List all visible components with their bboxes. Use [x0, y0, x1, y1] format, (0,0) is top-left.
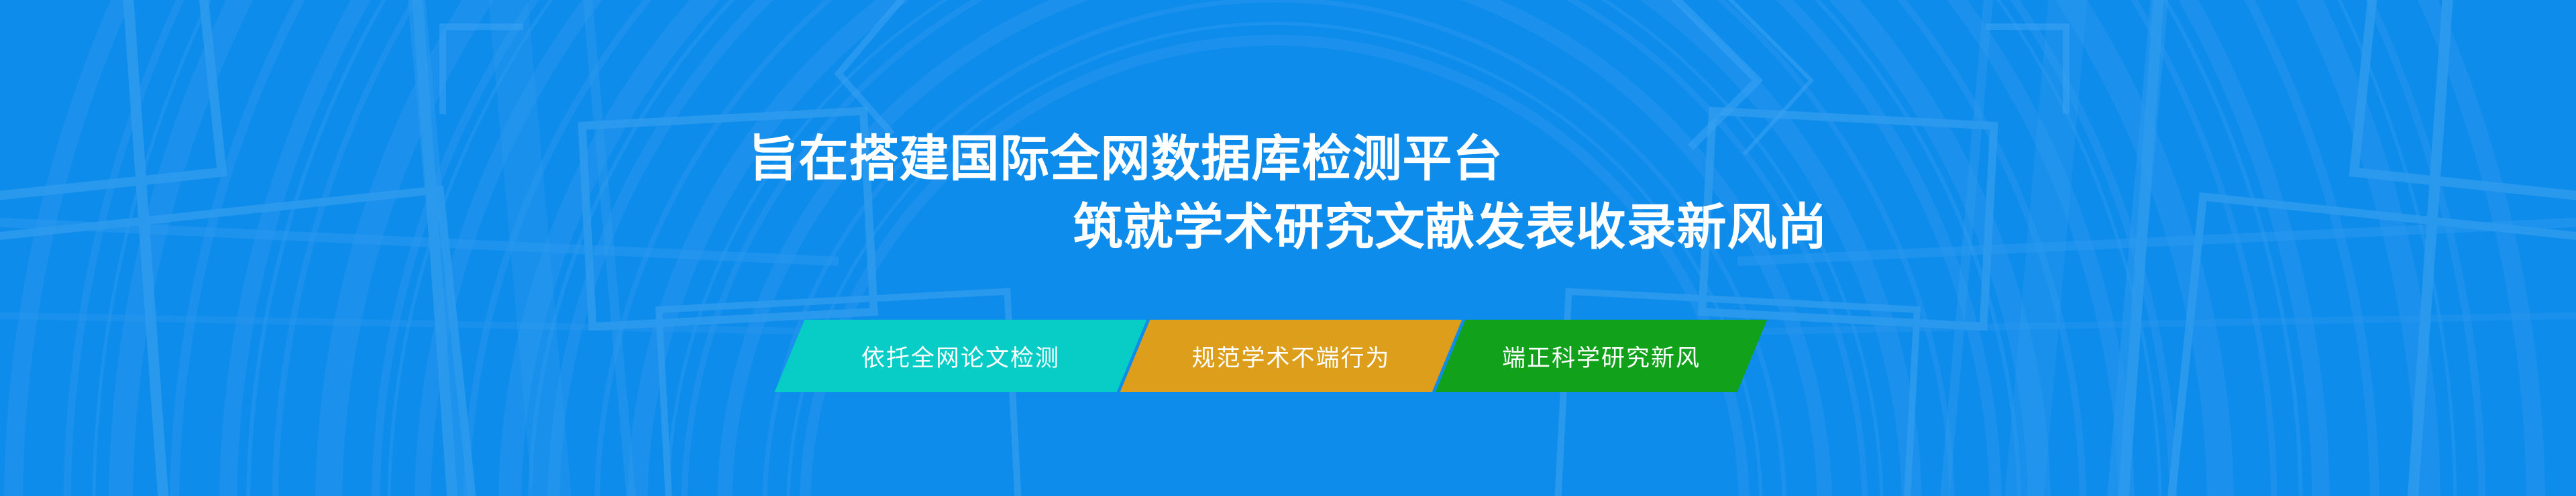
- tag-academic-misconduct[interactable]: 规范学术不端行为: [1135, 320, 1447, 392]
- headline-block: 旨在搭建国际全网数据库检测平台 筑就学术研究文献发表收录新风尚: [0, 125, 2576, 261]
- tag-research-ethos[interactable]: 端正科学研究新风: [1450, 320, 1752, 392]
- headline-line-1: 旨在搭建国际全网数据库检测平台: [0, 125, 2576, 193]
- tag-research-ethos-label: 端正科学研究新风: [1502, 339, 1701, 373]
- feature-tag-strip: 依托全网论文检测 规范学术不端行为 端正科学研究新风: [775, 320, 1752, 392]
- promo-banner: 旨在搭建国际全网数据库检测平台 筑就学术研究文献发表收录新风尚 依托全网论文检测…: [0, 0, 2576, 496]
- tag-paper-detection-label: 依托全网论文检测: [861, 339, 1060, 373]
- tag-paper-detection[interactable]: 依托全网论文检测: [790, 320, 1132, 392]
- tag-academic-misconduct-label: 规范学术不端行为: [1191, 339, 1390, 373]
- headline-line-2: 筑就学术研究文献发表收录新风尚: [0, 193, 2576, 261]
